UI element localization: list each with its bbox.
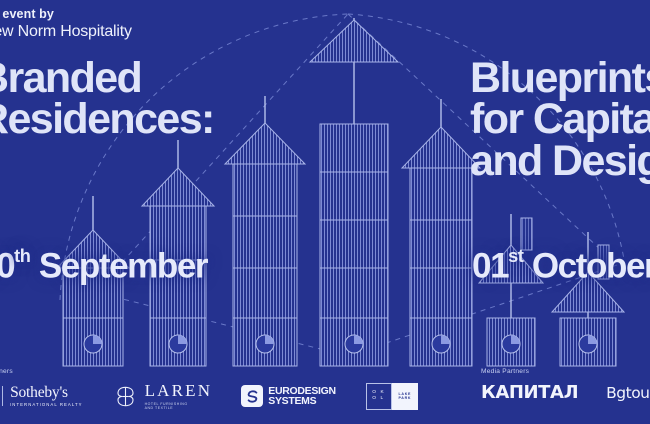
logo-bgtourism[interactable]: Bgtourism.bg [606, 384, 650, 402]
logo-kapital[interactable]: КАПИТАЛ [481, 382, 578, 403]
laren-tagline-2: AND TEXTILE [145, 407, 213, 411]
laren-wordmark: LAREN [145, 382, 213, 399]
date-right-month: October [524, 246, 650, 285]
lakepark-mark: LAKE PARK [392, 383, 418, 410]
credit-line-1: An event by [0, 6, 132, 22]
date-left-month: September [31, 246, 208, 285]
partners-label: Partners [0, 368, 13, 375]
building-5 [402, 99, 480, 366]
okol-line-2: O L [372, 396, 385, 402]
laren-tagline: HOTEL FURNISHING AND TEXTILE [145, 402, 213, 411]
logo-sothebys[interactable]: ia Sotheby's INTERNATIONAL REALTY [0, 385, 83, 407]
laren-knot-icon [113, 384, 138, 409]
building-4 [310, 18, 398, 366]
media-logo-row: КАПИТАЛ Bgtourism.bg [481, 382, 650, 403]
footer: Partners Media Partners ia Sotheby's INT… [0, 360, 650, 424]
lakepark-line-2: PARK [398, 396, 411, 400]
logo-eurodesign[interactable]: EURODESIGN SYSTEMS [241, 385, 336, 407]
sothebys-wordmark: Sotheby's [10, 385, 83, 401]
date-right-ordinal: st [508, 246, 523, 266]
date-right-number: 01 [472, 246, 508, 285]
building-3 [225, 96, 305, 366]
poster-canvas: An event by New Norm Hospitality Branded… [0, 0, 650, 424]
date-left-number: 30 [0, 246, 14, 285]
event-credit: An event by New Norm Hospitality [0, 6, 132, 42]
headline-left: Branded Residences: [0, 58, 214, 141]
logo-laren[interactable]: LAREN HOTEL FURNISHING AND TEXTILE [113, 382, 213, 411]
building-6 [479, 214, 543, 366]
media-label: Media Partners [481, 368, 529, 375]
partner-logo-row: ia Sotheby's INTERNATIONAL REALTY [0, 382, 418, 411]
headline-right: Blueprints for Capital and Design [470, 58, 650, 182]
date-left: 30th September [0, 246, 207, 286]
date-right: 01st October [472, 246, 650, 286]
okol-mark: O K O L [366, 383, 392, 410]
sothebys-tagline: INTERNATIONAL REALTY [10, 403, 83, 407]
sothebys-divider [2, 386, 3, 406]
logo-okol-lakepark[interactable]: O K O L LAKE PARK [366, 383, 418, 410]
credit-line-2: New Norm Hospitality [0, 22, 132, 42]
eurodesign-word-2: SYSTEMS [268, 396, 336, 407]
date-left-ordinal: th [14, 246, 30, 266]
eurodesign-s-icon [241, 385, 263, 407]
